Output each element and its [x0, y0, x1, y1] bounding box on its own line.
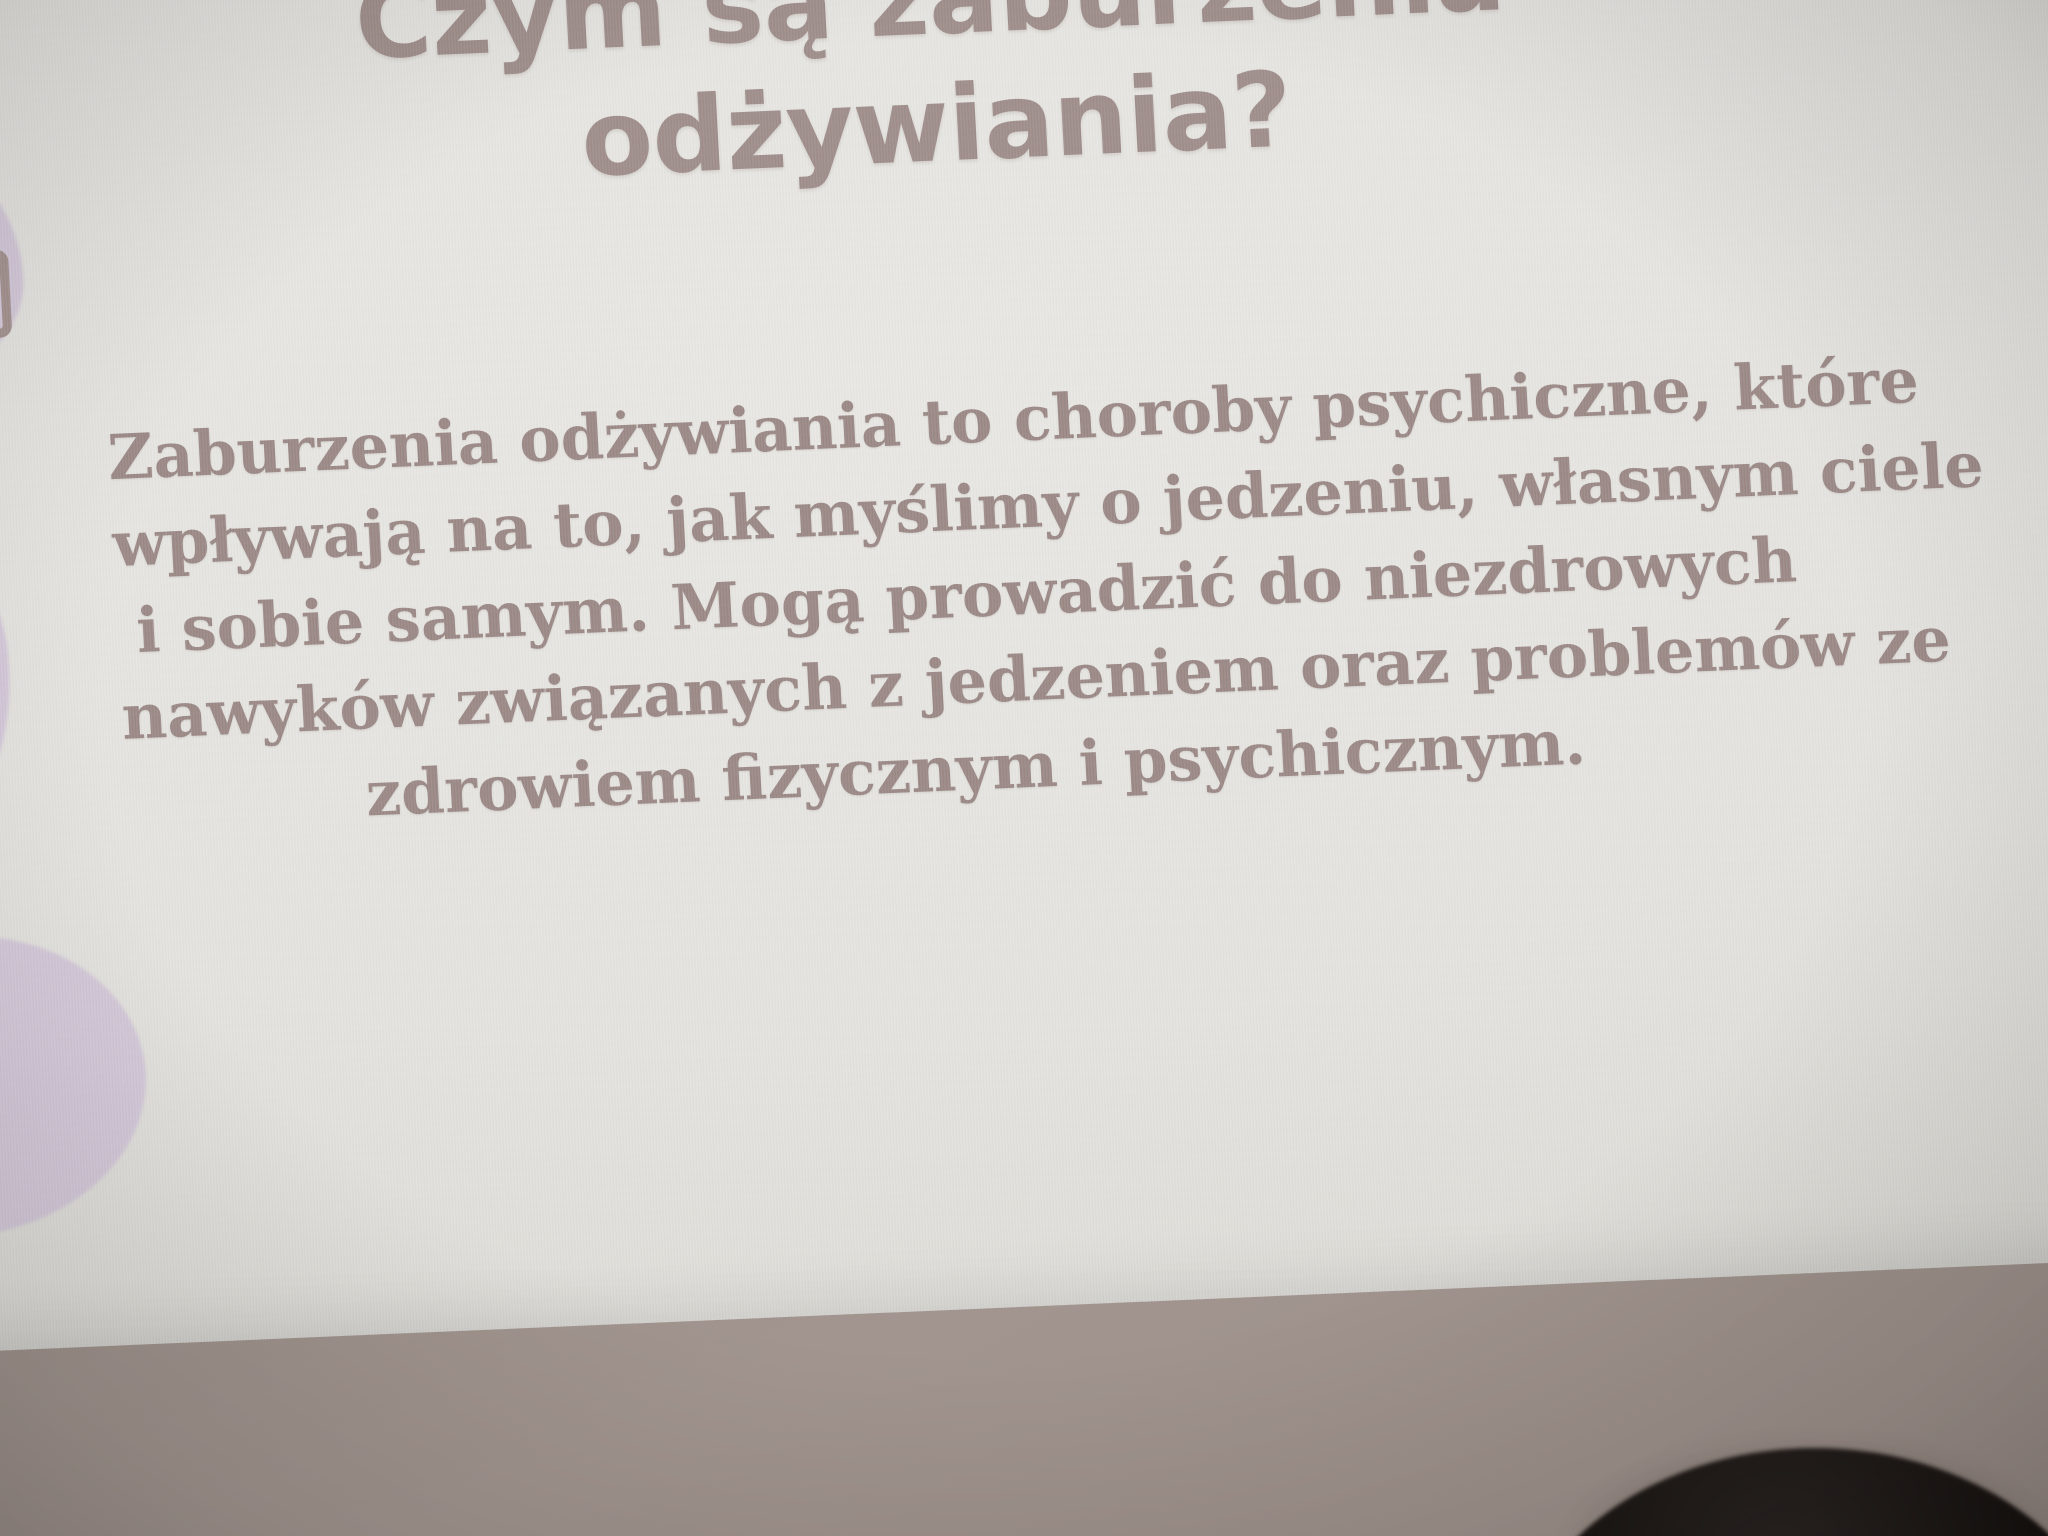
speech-bubble-question-icon: ? — [0, 248, 35, 385]
decorative-blob-bottom-left — [0, 929, 154, 1244]
slide-content: Czym są zaburzenia odżywiania? ? Zaburze… — [0, 0, 2048, 1354]
projection-screen-surface: Czym są zaburzenia odżywiania? ? Zaburze… — [0, 0, 2048, 1354]
decorative-blob-middle-left — [0, 500, 19, 872]
projection-screen-area: Czym są zaburzenia odżywiania? ? Zaburze… — [0, 0, 2048, 1399]
photo-of-projected-slide: Czym są zaburzenia odżywiania? ? Zaburze… — [0, 0, 2048, 1536]
slide-body-text: Zaburzenia odżywiania to choroby psychic… — [106, 343, 1828, 849]
slide-title: Czym są zaburzenia odżywiania? — [117, 0, 1749, 223]
question-mark-glyph: ? — [0, 253, 12, 337]
